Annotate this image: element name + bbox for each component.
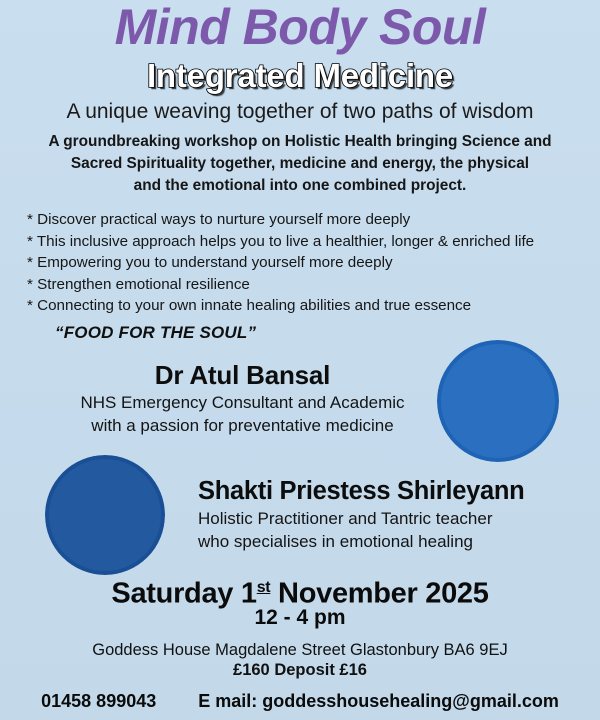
speaker-role-line-1: NHS Emergency Consultant and Academic bbox=[55, 391, 430, 414]
list-item: * This inclusive approach helps you to l… bbox=[27, 231, 587, 253]
speaker-role-line-1: Holistic Practitioner and Tantric teache… bbox=[198, 507, 524, 530]
benefits-list: * Discover practical ways to nurture you… bbox=[27, 209, 587, 346]
event-price: £160 Deposit £16 bbox=[0, 659, 600, 681]
portrait-ring bbox=[437, 340, 559, 462]
list-item: * Empowering you to understand yourself … bbox=[27, 252, 587, 274]
speaker-role-line-2: who specialises in emotional healing bbox=[198, 530, 524, 553]
intro-paragraph: A groundbreaking workshop on Holistic He… bbox=[20, 131, 580, 197]
portrait-dr-atul-bansal bbox=[437, 340, 559, 462]
event-time: 12 - 4 pm bbox=[0, 604, 600, 631]
speaker-role-line-2: with a passion for preventative medicine bbox=[55, 414, 430, 437]
list-item: * Discover practical ways to nurture you… bbox=[27, 209, 587, 231]
list-item: * Connecting to your own innate healing … bbox=[27, 295, 587, 317]
portrait-ring bbox=[45, 455, 165, 575]
speaker-shirleyann-text: Shakti Priestess Shirleyann Holistic Pra… bbox=[198, 476, 524, 553]
speaker-name: Shakti Priestess Shirleyann bbox=[198, 476, 524, 507]
intro-line-1: A groundbreaking workshop on Holistic He… bbox=[20, 131, 580, 153]
intro-line-3: and the emotional into one combined proj… bbox=[20, 175, 580, 197]
speaker-name: Dr Atul Bansal bbox=[55, 360, 430, 391]
list-item: * Strengthen emotional resilience bbox=[27, 274, 587, 296]
tagline: A unique weaving together of two paths o… bbox=[0, 98, 600, 125]
contact-row: 01458 899043 E mail: goddesshousehealing… bbox=[0, 689, 600, 713]
portrait-shakti-priestess-shirleyann bbox=[45, 455, 165, 575]
page-subtitle: Integrated Medicine bbox=[0, 57, 600, 95]
event-venue: Goddess House Magdalene Street Glastonbu… bbox=[0, 639, 600, 661]
contact-email[interactable]: E mail: goddesshousehealing@gmail.com bbox=[198, 689, 559, 713]
event-date-ordinal: st bbox=[257, 579, 271, 596]
contact-phone[interactable]: 01458 899043 bbox=[41, 689, 156, 713]
page-title: Mind Body Soul bbox=[0, 0, 600, 56]
poster-mind-body-soul: Mind Body Soul Integrated Medicine A uni… bbox=[0, 0, 600, 720]
intro-line-2: Sacred Spirituality together, medicine a… bbox=[20, 153, 580, 175]
speaker-bansal-text: Dr Atul Bansal NHS Emergency Consultant … bbox=[55, 360, 430, 437]
